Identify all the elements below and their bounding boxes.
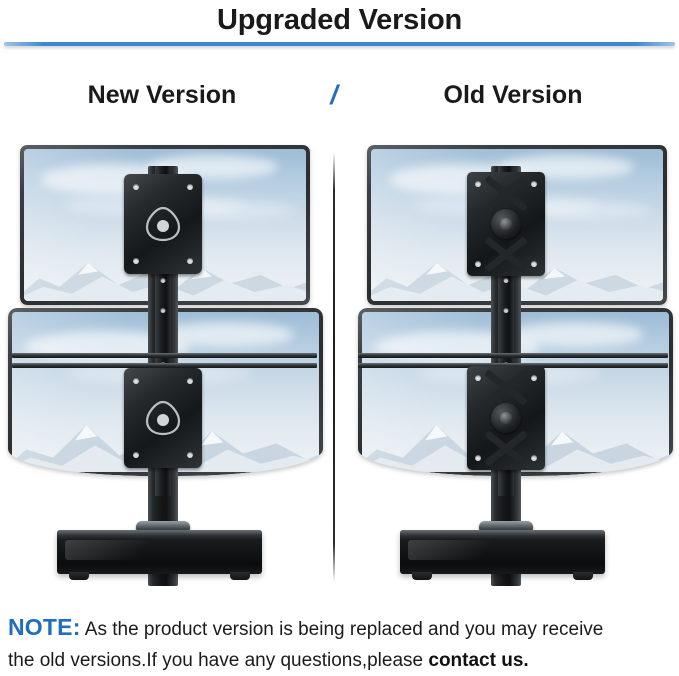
note-text: NOTE: As the product version is being re… xyxy=(8,612,674,676)
vesa-plate-upper-old xyxy=(467,172,545,276)
header-divider-rule xyxy=(4,42,675,46)
separator-slash: / xyxy=(316,74,352,116)
vesa-plate-lower-old xyxy=(467,366,545,470)
crossbar-upper xyxy=(12,353,317,358)
old-version-product xyxy=(340,120,679,600)
note-line2-pre: the old versions.If you have any questio… xyxy=(8,650,428,671)
old-version-label: Old Version xyxy=(393,74,633,116)
note-keyword: NOTE: xyxy=(8,614,81,640)
new-version-product xyxy=(0,120,333,600)
glass-base-old xyxy=(400,530,605,574)
pivot-hub-icon xyxy=(491,403,521,433)
vesa-plate-upper-new xyxy=(124,174,202,274)
product-comparison-image: Upgraded Version New Version Old Version… xyxy=(0,0,679,674)
brand-emblem-icon xyxy=(143,205,183,243)
glass-base-new xyxy=(57,530,262,574)
new-version-label: New Version xyxy=(42,74,282,116)
pivot-hub-icon xyxy=(491,209,521,239)
note-line1: As the product version is being replaced… xyxy=(81,619,604,640)
crossbar-upper xyxy=(358,353,668,358)
brand-emblem-icon xyxy=(143,399,183,437)
vertical-divider xyxy=(333,152,335,582)
page-title: Upgraded Version xyxy=(0,0,679,40)
contact-us-text: contact us. xyxy=(428,650,528,671)
vesa-plate-lower-new xyxy=(124,368,202,468)
